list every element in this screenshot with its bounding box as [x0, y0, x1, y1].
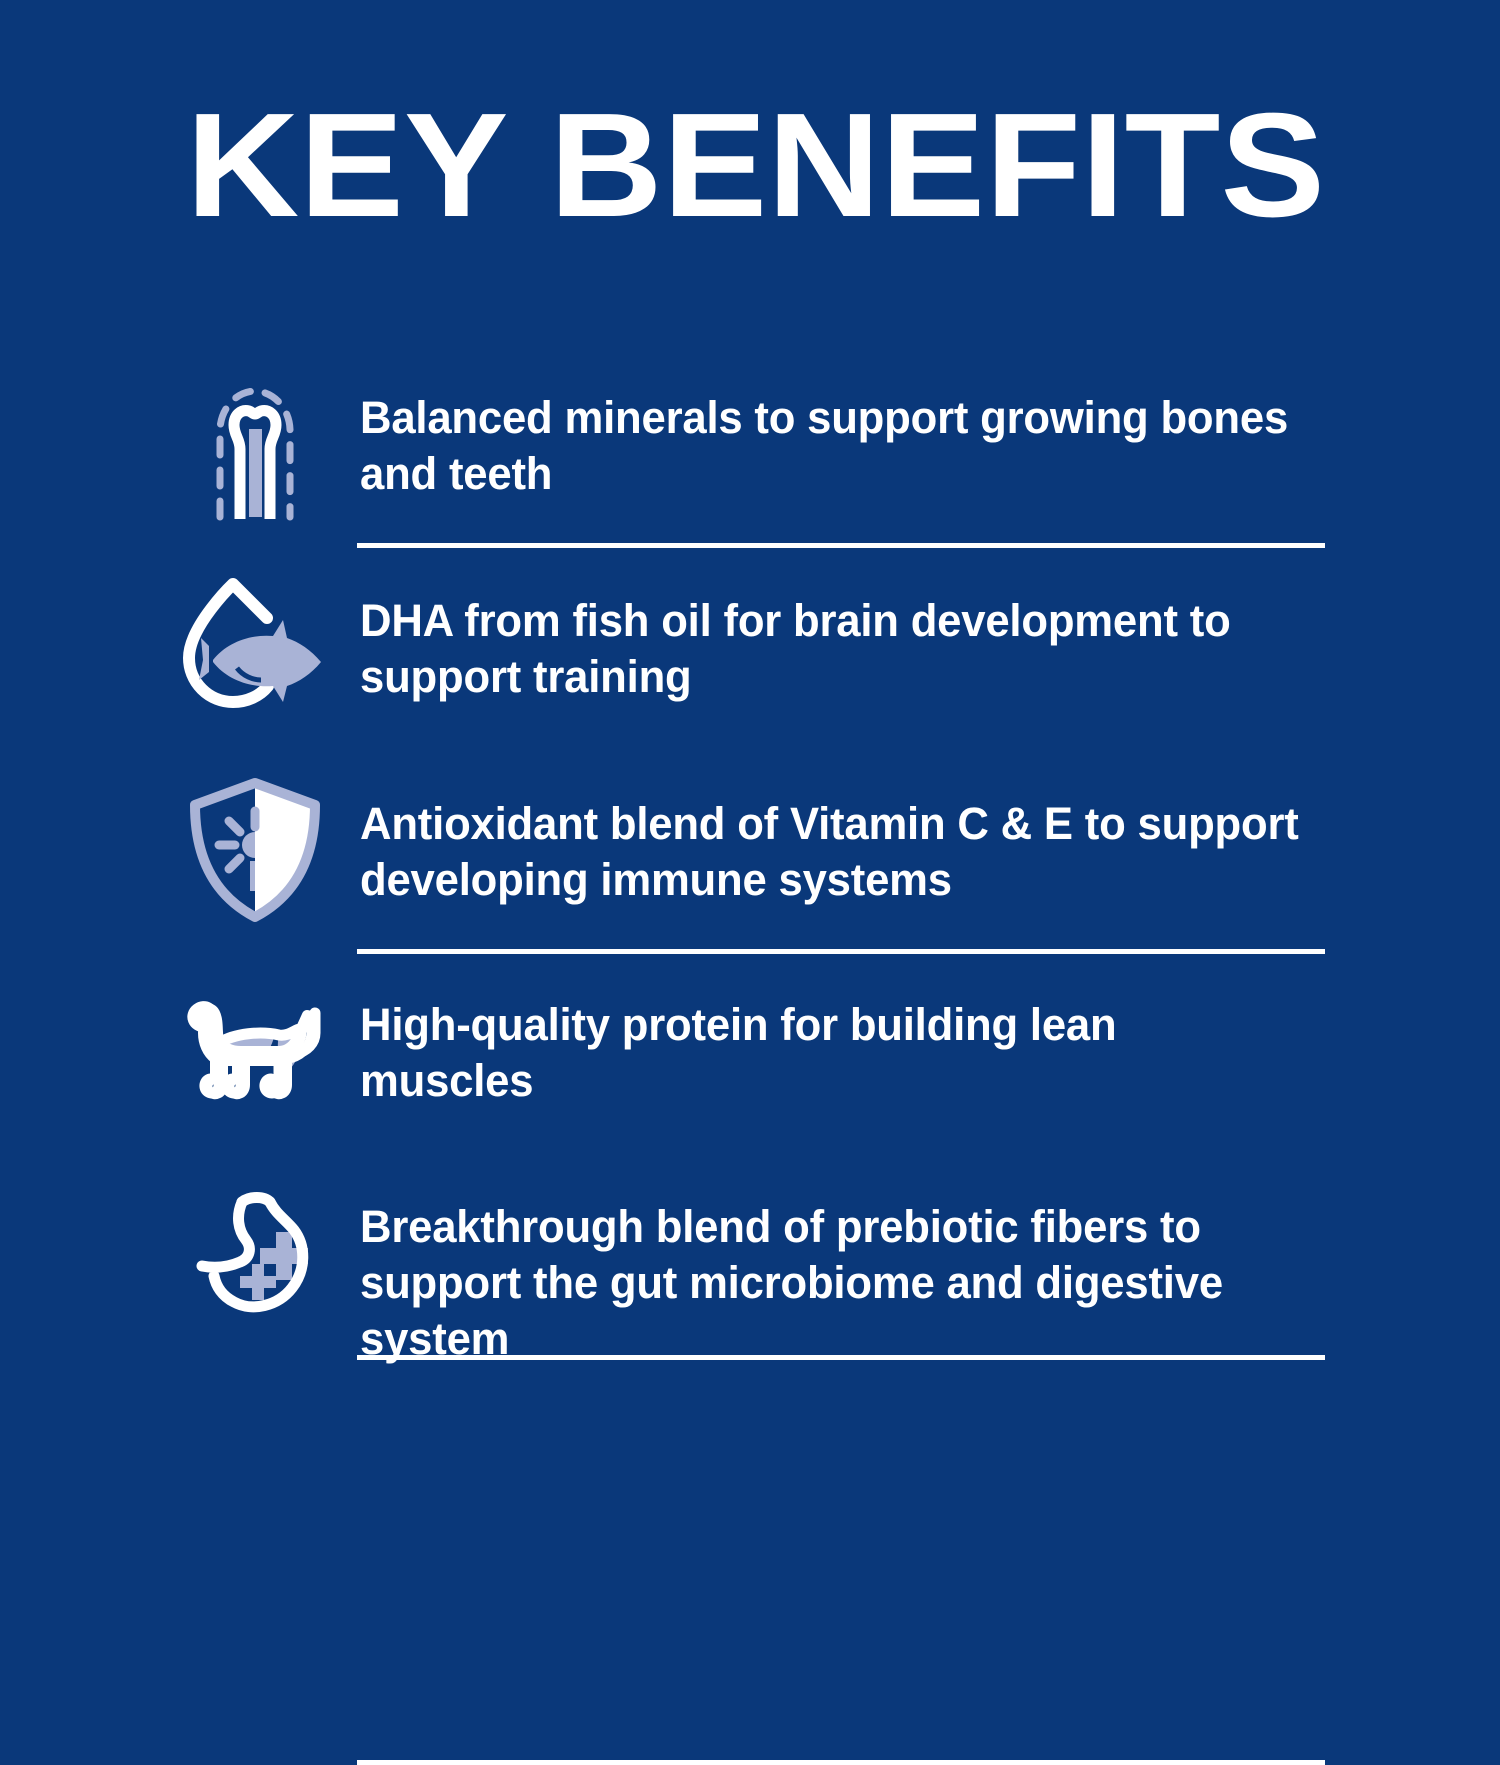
benefits-list: Balanced minerals to support growing bon…: [0, 360, 1500, 1381]
key-benefits-panel: KEY BENEFITS Balanced minerals to suppor…: [0, 0, 1500, 1500]
benefit-text: Breakthrough blend of prebiotic fibers t…: [360, 1171, 1466, 1367]
stomach-digestive-icon: [150, 1171, 360, 1331]
fish-oil-droplet-icon: [150, 563, 360, 723]
benefit-divider: [357, 543, 1325, 548]
benefit-item-antioxidant: Antioxidant blend of Vitamin C & E to su…: [0, 766, 1500, 969]
page-title: KEY BENEFITS: [186, 96, 1437, 236]
bone-icon: [150, 360, 360, 520]
benefit-text: Balanced minerals to support growing bon…: [360, 360, 1466, 502]
benefit-item-prebiotic: Breakthrough blend of prebiotic fibers t…: [0, 1171, 1500, 1381]
shield-immune-icon: [150, 766, 360, 926]
dog-muscle-icon: [150, 969, 360, 1119]
benefit-item-dha: DHA from fish oil for brain development …: [0, 563, 1500, 766]
benefit-item-protein: High-quality protein for building lean m…: [0, 969, 1500, 1171]
benefit-text: DHA from fish oil for brain development …: [360, 563, 1466, 705]
benefit-text: High-quality protein for building lean m…: [360, 969, 1466, 1109]
benefit-item-bone: Balanced minerals to support growing bon…: [0, 360, 1500, 563]
benefit-divider: [357, 1760, 1325, 1765]
benefit-text: Antioxidant blend of Vitamin C & E to su…: [360, 766, 1466, 908]
